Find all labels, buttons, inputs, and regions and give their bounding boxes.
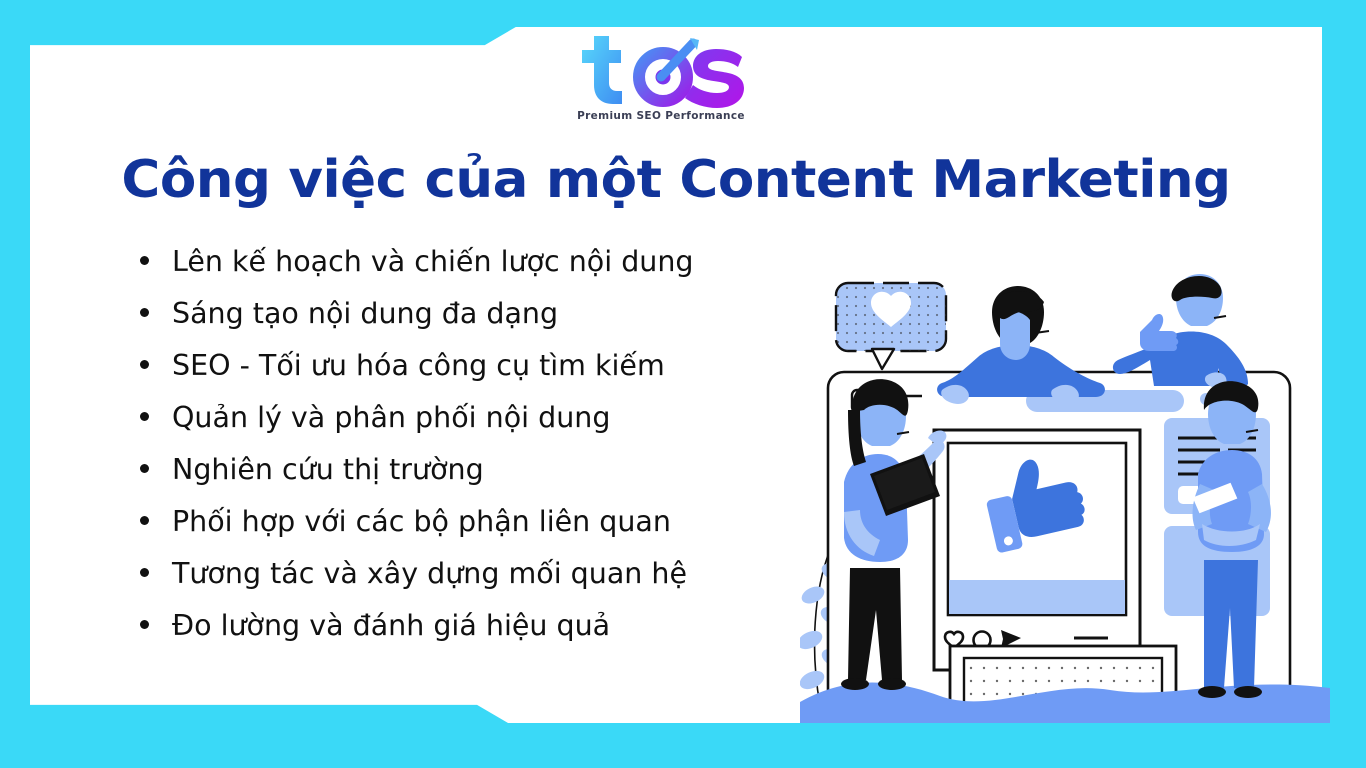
list-item: Đo lường và đánh giá hiệu quả [140,612,780,664]
list-item-label: Nghiên cứu thị trường [172,456,484,485]
bullet-dot-icon [140,256,149,265]
list-item-label: SEO - Tối ưu hóa công cụ tìm kiếm [172,352,665,381]
tos-logo[interactable]: Premium SEO Performance [566,30,756,135]
list-item: SEO - Tối ưu hóa công cụ tìm kiếm [140,352,780,404]
list-item: Quản lý và phân phối nội dung [140,404,780,456]
social-post-card [934,430,1140,670]
bullet-dot-icon [140,568,149,577]
list-item-label: Tương tác và xây dựng mối quan hệ [172,560,687,589]
page-title: Công việc của một Content Marketing [17,150,1335,210]
list-item: Lên kế hoạch và chiến lược nội dung [140,248,780,300]
list-item-label: Quản lý và phân phối nội dung [172,404,610,433]
like-speech-bubble [836,283,946,369]
list-item-label: Phối hợp với các bộ phận liên quan [172,508,671,537]
poster-canvas: Premium SEO Performance Công việc của mộ… [0,0,1366,768]
list-item-label: Lên kế hoạch và chiến lược nội dung [172,248,694,277]
bullet-dot-icon [140,620,149,629]
bullet-dot-icon [140,516,149,525]
list-item-label: Đo lường và đánh giá hiệu quả [172,612,610,641]
social-media-marketing-illustration [800,250,1330,723]
bullet-dot-icon [140,308,149,317]
woman-leaning-character [937,286,1105,404]
bullet-dot-icon [140,464,149,473]
tos-logo-mark [566,30,756,110]
thumb-gesture-icon [1140,314,1178,351]
list-item: Tương tác và xây dựng mối quan hệ [140,560,780,612]
list-item-label: Sáng tạo nội dung đa dạng [172,300,558,329]
list-item: Nghiên cứu thị trường [140,456,780,508]
logo-tagline: Premium SEO Performance [566,110,756,122]
bullet-dot-icon [140,412,149,421]
list-item: Sáng tạo nội dung đa dạng [140,300,780,352]
bullet-dot-icon [140,360,149,369]
responsibilities-list: Lên kế hoạch và chiến lược nội dung Sáng… [140,248,780,664]
list-item: Phối hợp với các bộ phận liên quan [140,508,780,560]
